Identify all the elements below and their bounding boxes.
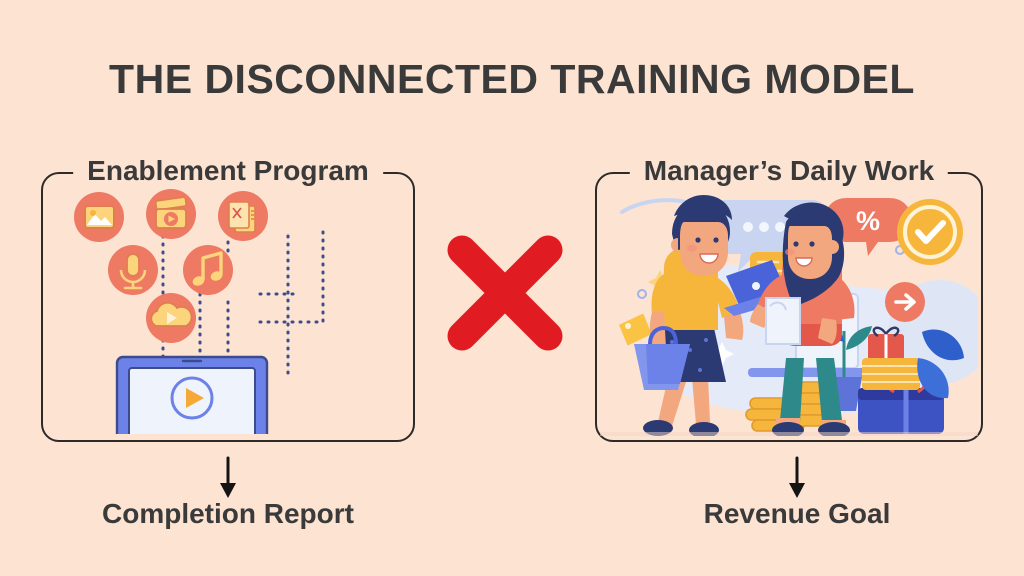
illustration-e-learning-media-laptop: [55, 182, 401, 434]
laptop-illustration: [87, 357, 297, 434]
svg-text:%: %: [856, 206, 880, 236]
illustration-two-business-women-sales: %: [600, 182, 978, 436]
notebook-icon: [766, 298, 800, 344]
cloud-play-icon: [146, 293, 196, 343]
page-title: THE DISCONNECTED TRAINING MODEL: [0, 56, 1024, 103]
microphone-icon: [108, 245, 158, 295]
down-arrow-left: [213, 456, 243, 500]
red-x-cross-icon: [440, 228, 570, 358]
down-arrow-right: [782, 456, 812, 500]
image-icon: [74, 192, 124, 242]
gift-box-gold: [862, 358, 920, 390]
caption-completion-report: Completion Report: [18, 498, 438, 530]
caption-revenue-goal: Revenue Goal: [587, 498, 1007, 530]
documents-icon: [218, 191, 268, 241]
gift-box-red: [868, 328, 904, 360]
arrow-badge: [885, 282, 925, 322]
infographic-slide: THE DISCONNECTED TRAINING MODEL Enableme…: [0, 0, 1024, 576]
music-note-icon: [183, 245, 233, 295]
clapperboard-video-icon: [146, 189, 196, 239]
check-coin-badge: [897, 199, 963, 265]
